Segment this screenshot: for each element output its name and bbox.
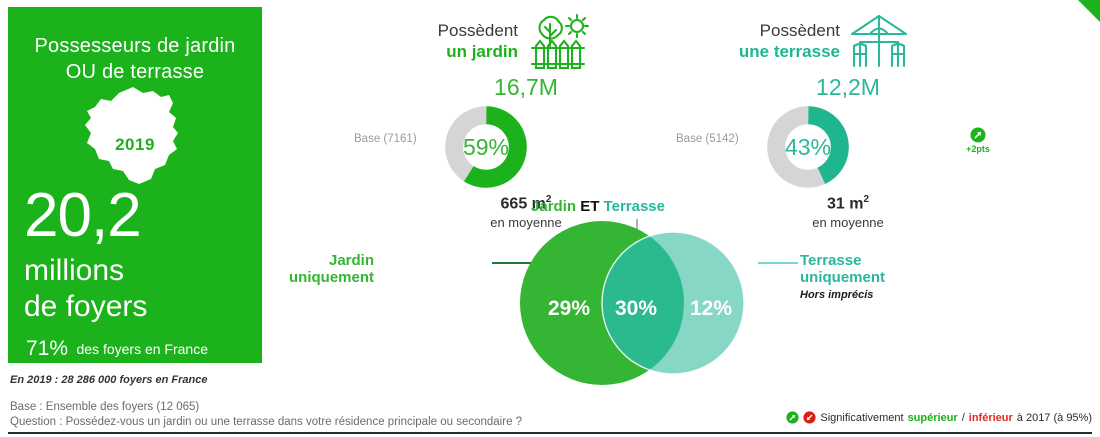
venn-label-both-terrace: Terrasse — [604, 198, 665, 215]
venn-value-garden-only: 29% — [548, 297, 590, 321]
venn-label-both: Jardin ET Terrasse — [531, 198, 665, 215]
venn-label-both-and: ET — [580, 198, 599, 215]
venn-label-terrace-note: Hors imprécis — [800, 287, 885, 304]
venn-label-garden-only-line1: Jardin — [289, 252, 374, 269]
venn-value-terrace-only: 12% — [690, 297, 732, 321]
arrow-up-circle-green-icon — [786, 411, 799, 424]
infographic-root: Possesseurs de jardin OU de terrasse 201… — [0, 0, 1100, 437]
venn-diagram — [0, 0, 1100, 437]
footer-methodology: Base : Ensemble des foyers (12 065) Ques… — [10, 400, 522, 430]
legend-prefix: Significativement — [820, 412, 903, 424]
legend-inferior: inférieur — [969, 412, 1013, 424]
legend-superior: supérieur — [908, 412, 958, 424]
corner-accent — [1078, 0, 1100, 22]
significance-legend: Significativement supérieur / inférieur … — [786, 411, 1092, 424]
venn-label-terrace-only: Terrasse uniquement Hors imprécis — [800, 252, 885, 304]
venn-label-garden-only-line2: uniquement — [289, 269, 374, 286]
venn-label-both-garden: Jardin — [531, 198, 576, 215]
legend-separator: / — [962, 412, 965, 424]
footer-divider — [8, 432, 1092, 434]
venn-value-both: 30% — [615, 297, 657, 321]
footer-question-line: Question : Possédez-vous un jardin ou un… — [10, 415, 522, 430]
legend-suffix: à 2017 (à 95%) — [1017, 412, 1092, 424]
arrow-down-circle-red-icon — [803, 411, 816, 424]
venn-label-garden-only: Jardin uniquement — [289, 252, 374, 286]
footer-base-line: Base : Ensemble des foyers (12 065) — [10, 400, 522, 415]
venn-label-terrace-only-line1: Terrasse — [800, 252, 885, 269]
venn-label-terrace-only-line2: uniquement — [800, 269, 885, 286]
